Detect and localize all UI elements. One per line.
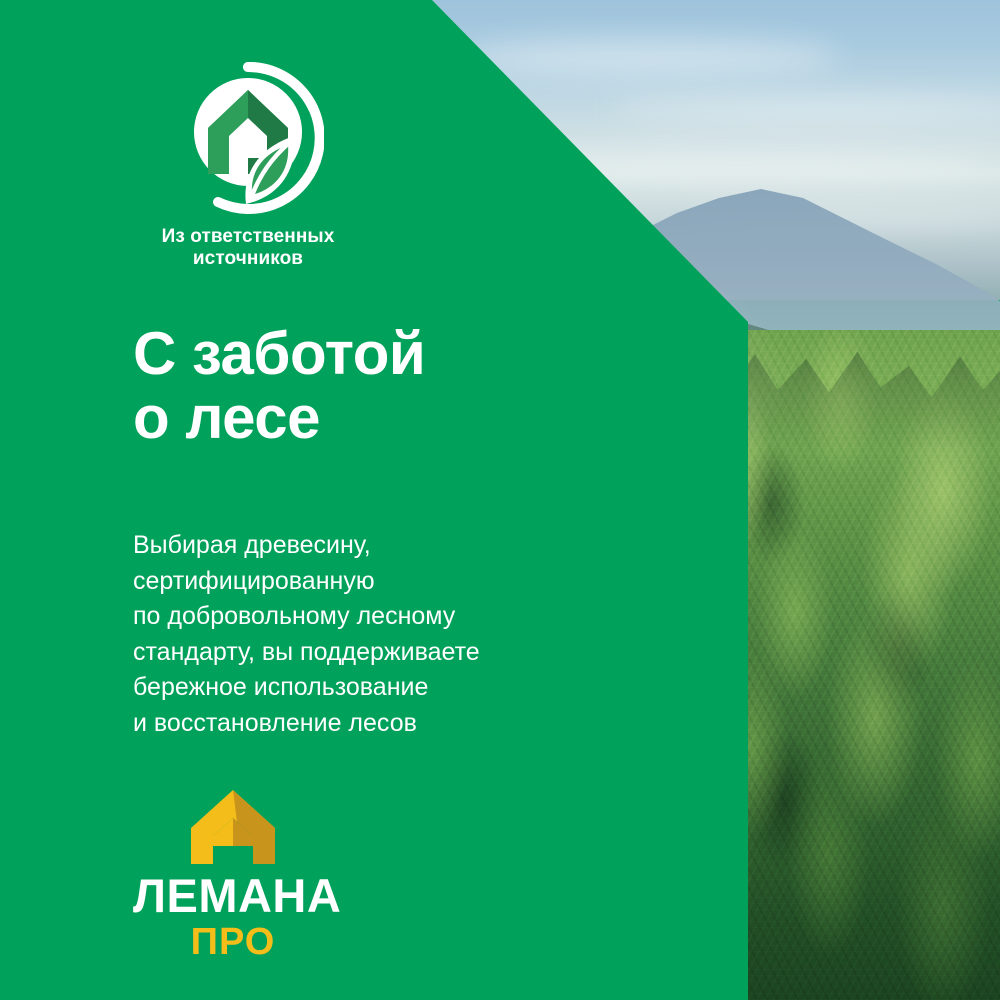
cloud-streak — [460, 40, 840, 74]
brand-name: ЛЕМАНА — [133, 872, 333, 919]
poster-canvas: Из ответственных источников С заботой о … — [0, 0, 1000, 1000]
body-copy: Выбирая древесину, сертифицированную по … — [133, 528, 613, 741]
brand-lockup: ЛЕМАНА ПРО — [133, 788, 333, 961]
lemana-house-icon — [189, 788, 277, 866]
house-leaf-circle-icon — [172, 62, 324, 214]
certification-mark: Из ответственных источников — [133, 62, 363, 271]
certification-caption: Из ответственных источников — [133, 226, 363, 271]
brand-sub: ПРО — [133, 923, 333, 961]
page-title: С заботой о лесе — [133, 322, 603, 450]
